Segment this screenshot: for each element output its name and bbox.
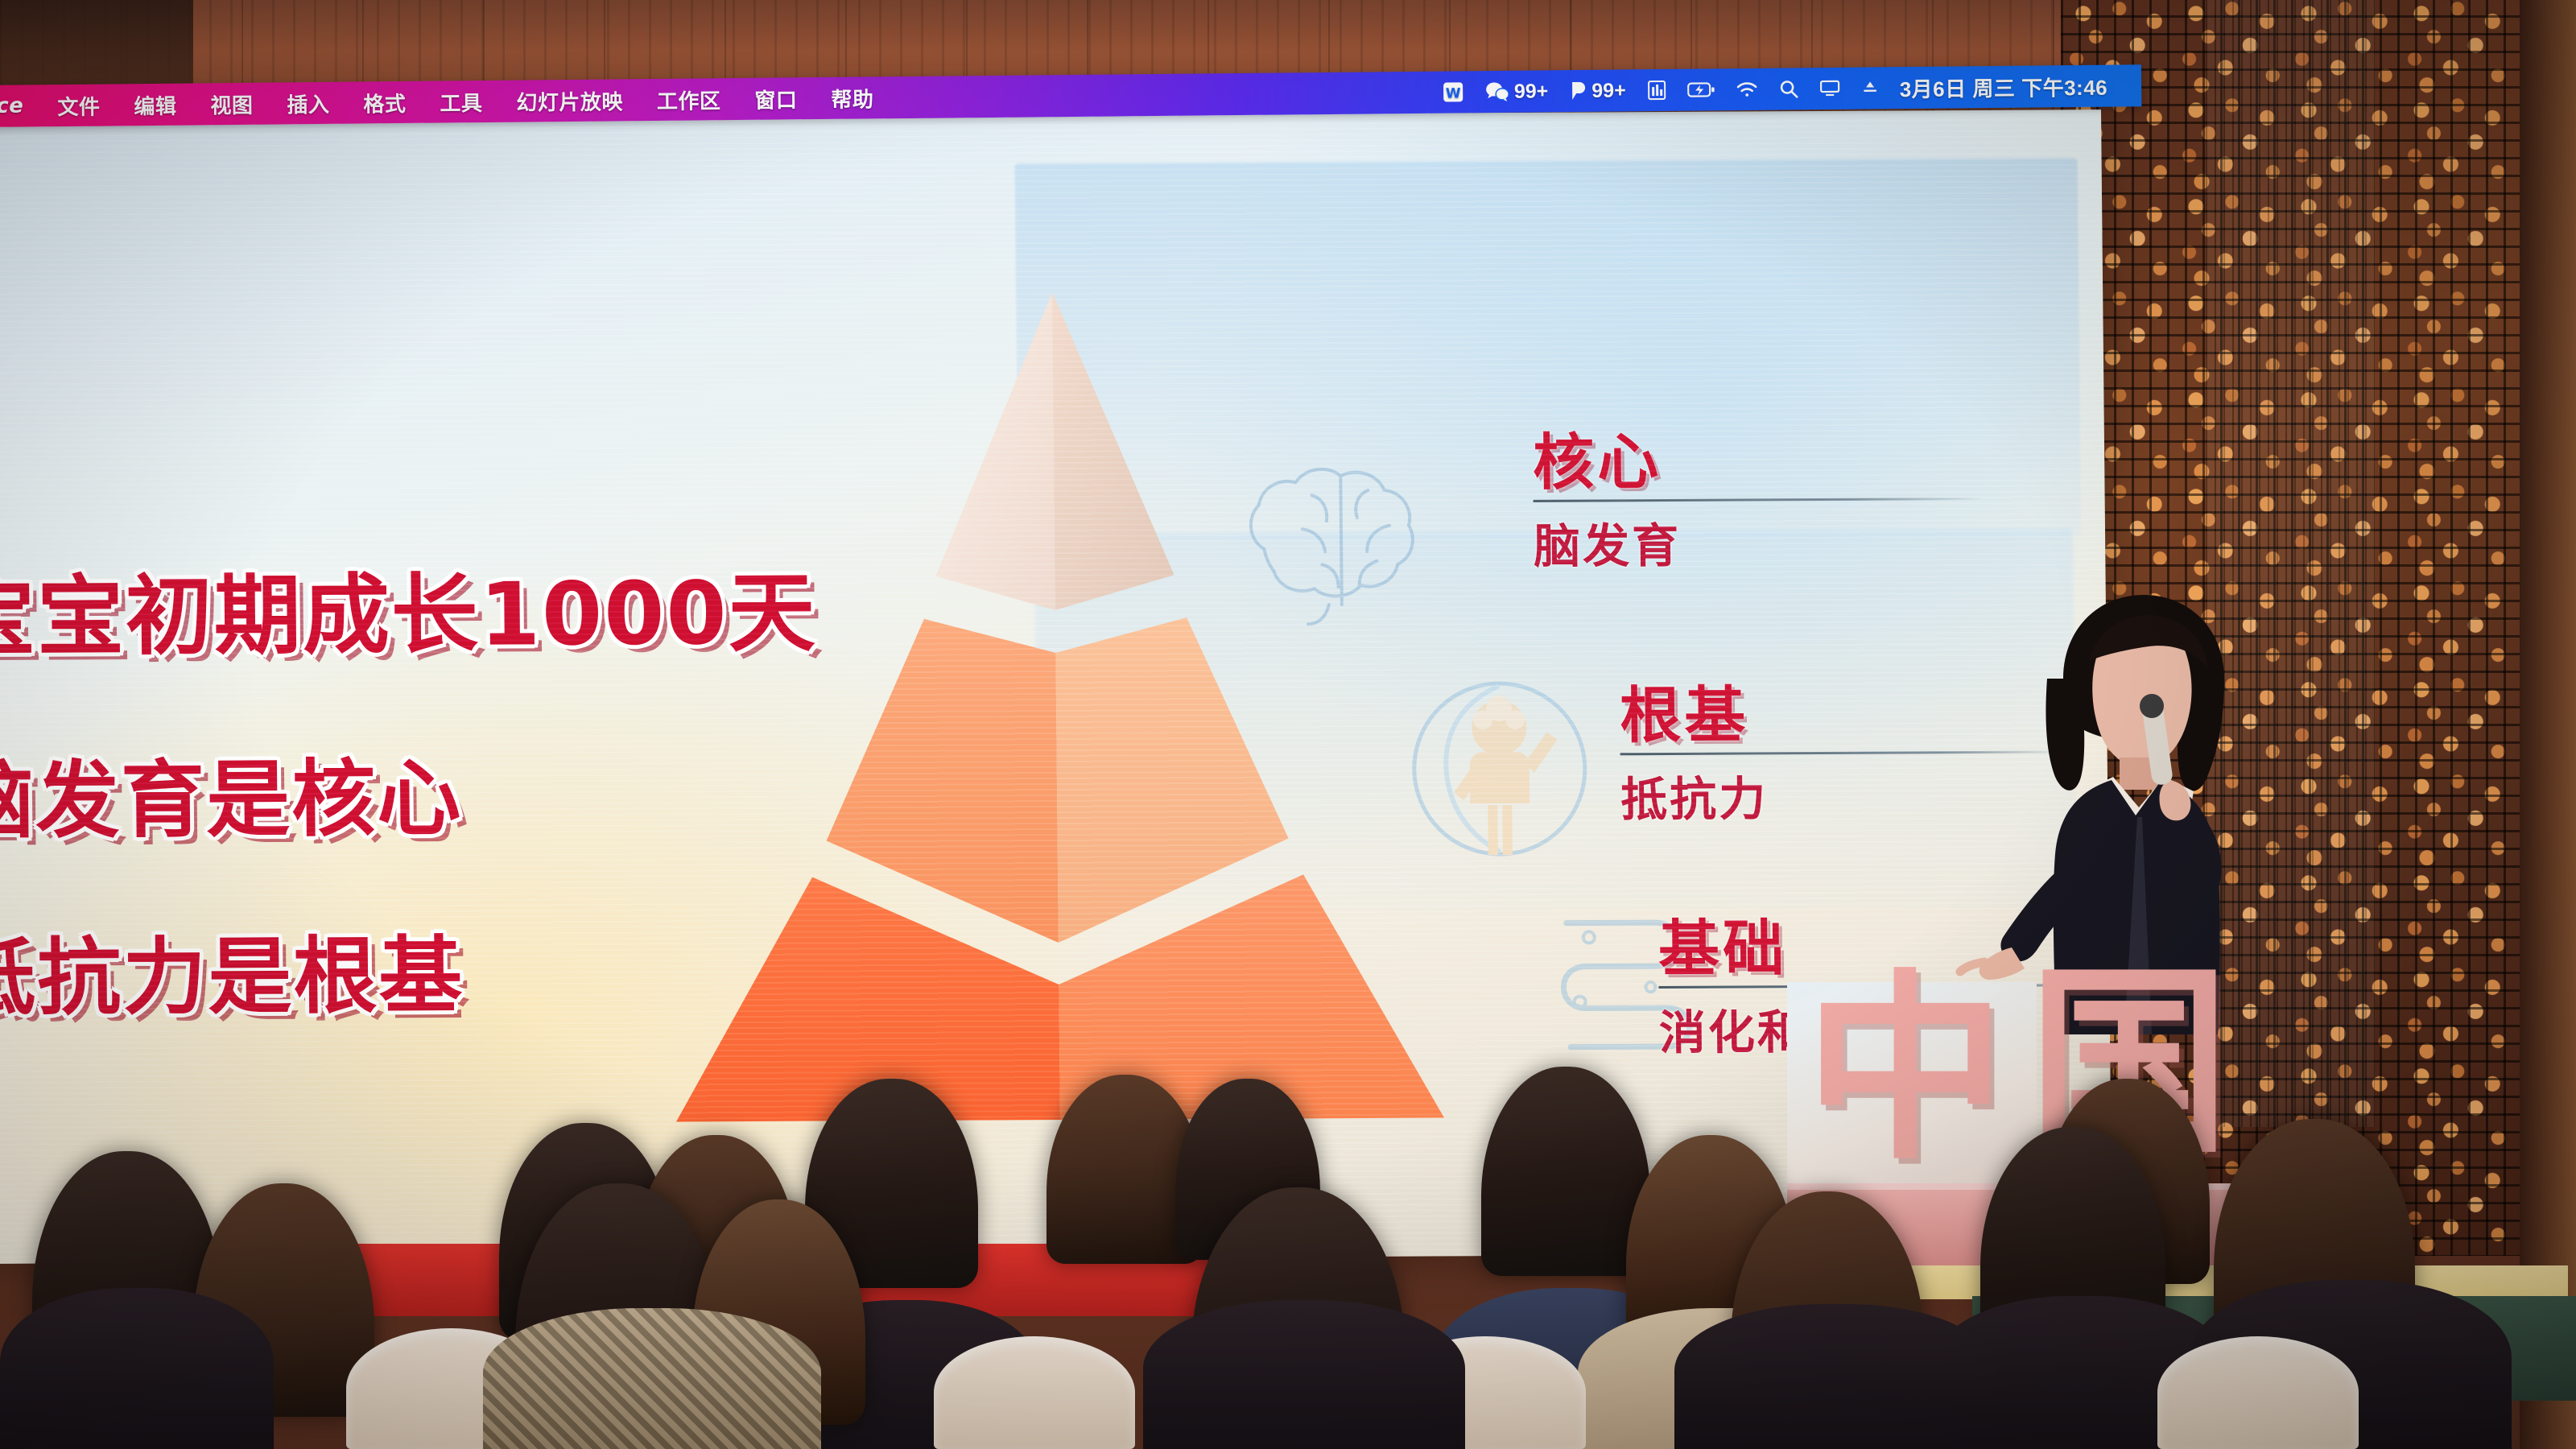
menu-item-insert[interactable]: 插入 xyxy=(287,88,329,118)
menu-item-view[interactable]: 视图 xyxy=(210,89,253,119)
battery-charging-icon[interactable] xyxy=(1687,81,1715,97)
stage-yellow-strip xyxy=(1795,1265,2568,1299)
menu-item-slideshow[interactable]: 幻灯片放映 xyxy=(516,85,623,116)
control-center-icon[interactable] xyxy=(1861,79,1879,97)
wps-tray-icon[interactable]: W xyxy=(1442,80,1464,103)
pyramid-label-core: 核心 脑发育 xyxy=(1533,428,1985,576)
wifi-icon[interactable] xyxy=(1736,80,1758,98)
search-icon[interactable] xyxy=(1779,79,1798,98)
sign-char-guo: 国 xyxy=(2029,968,2230,1159)
menu-bar-items: ffice 文件 编辑 视图 插入 格式 工具 幻灯片放映 工作区 窗口 帮助 xyxy=(0,83,874,122)
wall-dark-corner xyxy=(0,0,193,97)
menu-item-workspace[interactable]: 工作区 xyxy=(657,85,721,115)
menu-item-window[interactable]: 窗口 xyxy=(754,84,797,114)
menu-app-name[interactable]: ffice xyxy=(0,94,23,119)
menu-item-file[interactable]: 文件 xyxy=(57,90,100,121)
svg-text:W: W xyxy=(1445,85,1460,101)
wechat-badge-count: 99+ xyxy=(1514,80,1549,103)
menu-item-format[interactable]: 格式 xyxy=(363,87,406,118)
label-core-title: 核心 xyxy=(1533,428,1984,495)
messenger-tray-item[interactable]: 99+ xyxy=(1569,79,1626,103)
slide-headline-2: 脑发育是核心 xyxy=(0,730,463,854)
stage-red-floor xyxy=(322,1244,1304,1316)
menu-bar-tray: W 99+ 99+ xyxy=(1442,71,2142,107)
label-core-rule xyxy=(1534,497,1984,502)
wall-right-edge xyxy=(2520,0,2576,1449)
stage-green-table xyxy=(1972,1296,2576,1401)
slide-headline-3: 抵抗力是根基 xyxy=(0,907,464,1031)
menu-item-help[interactable]: 帮助 xyxy=(831,83,873,114)
bar-chart-icon[interactable] xyxy=(1647,80,1666,101)
sign-char-zhong: 中 xyxy=(1805,974,2006,1166)
menubar-clock[interactable]: 3月6日 周三 下午3:46 xyxy=(1900,71,2108,102)
messenger-badge-count: 99+ xyxy=(1591,79,1626,102)
pyramid-diagram xyxy=(533,274,1579,1133)
wechat-tray-item[interactable]: 99+ xyxy=(1485,80,1549,104)
screen-icon[interactable] xyxy=(1819,80,1840,97)
venue-sign-zhongguo: 中 国 xyxy=(1787,974,2351,1272)
screenshot-root: 宝宝初期成长1000天 脑发育是核心 抵抗力是根基 xyxy=(0,0,2576,1449)
menu-item-tools[interactable]: 工具 xyxy=(440,87,482,118)
menu-item-edit[interactable]: 编辑 xyxy=(134,89,176,120)
sign-pedestal xyxy=(1787,1183,2318,1272)
label-core-subtitle: 脑发育 xyxy=(1534,506,1985,576)
